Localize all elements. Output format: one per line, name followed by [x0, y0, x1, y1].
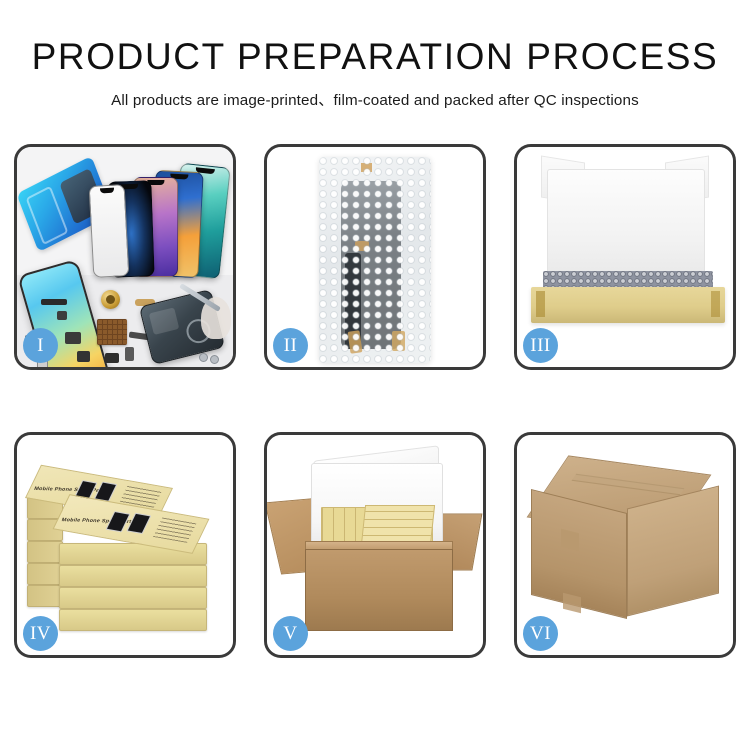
page-subtitle: All products are image-printed、film-coat…	[0, 88, 750, 110]
stacked-box	[59, 565, 207, 587]
bubble-texture	[319, 157, 431, 363]
carton-right-face	[627, 486, 719, 617]
box-spec-lines	[153, 517, 197, 543]
bubble-wrap-bag	[319, 157, 431, 363]
phone-lineup	[91, 155, 233, 277]
process-step-2: II	[264, 144, 486, 370]
step-badge-2: II	[273, 328, 308, 363]
process-step-5: V	[264, 432, 486, 658]
carton-body	[305, 549, 453, 631]
box-phone-image	[126, 513, 151, 534]
product-preparation-process-page: PRODUCT PREPARATION PROCESS All products…	[0, 0, 750, 750]
process-step-6: VI	[514, 432, 736, 658]
step-badge-5: V	[273, 616, 308, 651]
small-part	[57, 311, 67, 320]
process-step-4: Mobile Phone Spare Parts Mobile Phone Sp…	[14, 432, 236, 658]
stacked-box	[27, 541, 63, 563]
step-badge-6: VI	[523, 616, 558, 651]
page-header: PRODUCT PREPARATION PROCESS All products…	[0, 0, 750, 110]
box-stack: Mobile Phone Spare Parts Mobile Phone Sp…	[27, 461, 231, 643]
small-part	[41, 299, 67, 305]
copper-grid-part	[97, 319, 127, 345]
page-title: PRODUCT PREPARATION PROCESS	[0, 38, 750, 77]
tape-tab	[563, 593, 581, 613]
stacked-box	[27, 563, 63, 585]
stacked-box	[27, 585, 63, 607]
small-part	[105, 353, 119, 363]
process-step-1: I	[14, 144, 236, 370]
retail-boxes-inside	[361, 505, 435, 545]
kraft-box-front	[531, 287, 725, 323]
process-step-3: III	[514, 144, 736, 370]
stacked-box	[59, 609, 207, 631]
small-part	[65, 332, 81, 344]
step-badge-1: I	[23, 328, 58, 363]
step-badge-4: IV	[23, 616, 58, 651]
screws-part	[199, 353, 221, 363]
phone-notch	[100, 188, 114, 194]
screen-protector-glass	[89, 184, 130, 278]
stacked-box	[59, 587, 207, 609]
foam-padding	[547, 169, 705, 287]
small-part	[77, 351, 90, 362]
step-badge-3: III	[523, 328, 558, 363]
small-part	[125, 347, 134, 361]
process-steps-grid: I II	[14, 144, 736, 658]
speaker-coil-part	[101, 290, 120, 309]
